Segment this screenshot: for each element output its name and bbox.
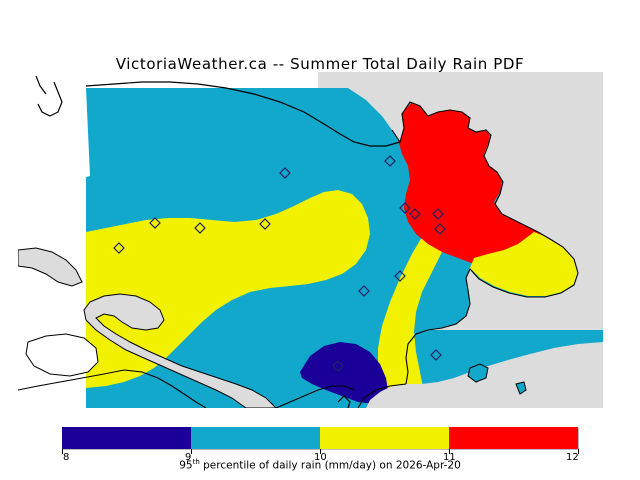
contour-map[interactable]: [18, 72, 603, 408]
colorbar-segment-11-12[interactable]: [449, 427, 578, 449]
colorbar-gradient[interactable]: [62, 427, 578, 449]
colorbar-caption: 95th percentile of daily rain (mm/day) o…: [0, 458, 640, 472]
colorbar[interactable]: 89101112: [62, 427, 578, 449]
weather-map-page: VictoriaWeather.ca -- Summer Total Daily…: [0, 0, 640, 480]
colorbar-segment-8-9[interactable]: [62, 427, 191, 449]
caption-ordinal-suffix: th: [193, 458, 200, 466]
page-title: VictoriaWeather.ca -- Summer Total Daily…: [0, 55, 640, 73]
colorbar-segment-10-11[interactable]: [320, 427, 449, 449]
caption-text: percentile of daily rain (mm/day) on 202…: [200, 460, 461, 472]
map-plot-panel[interactable]: [18, 72, 603, 408]
caption-percentile-number: 95: [179, 460, 192, 472]
colorbar-segment-9-10[interactable]: [191, 427, 320, 449]
